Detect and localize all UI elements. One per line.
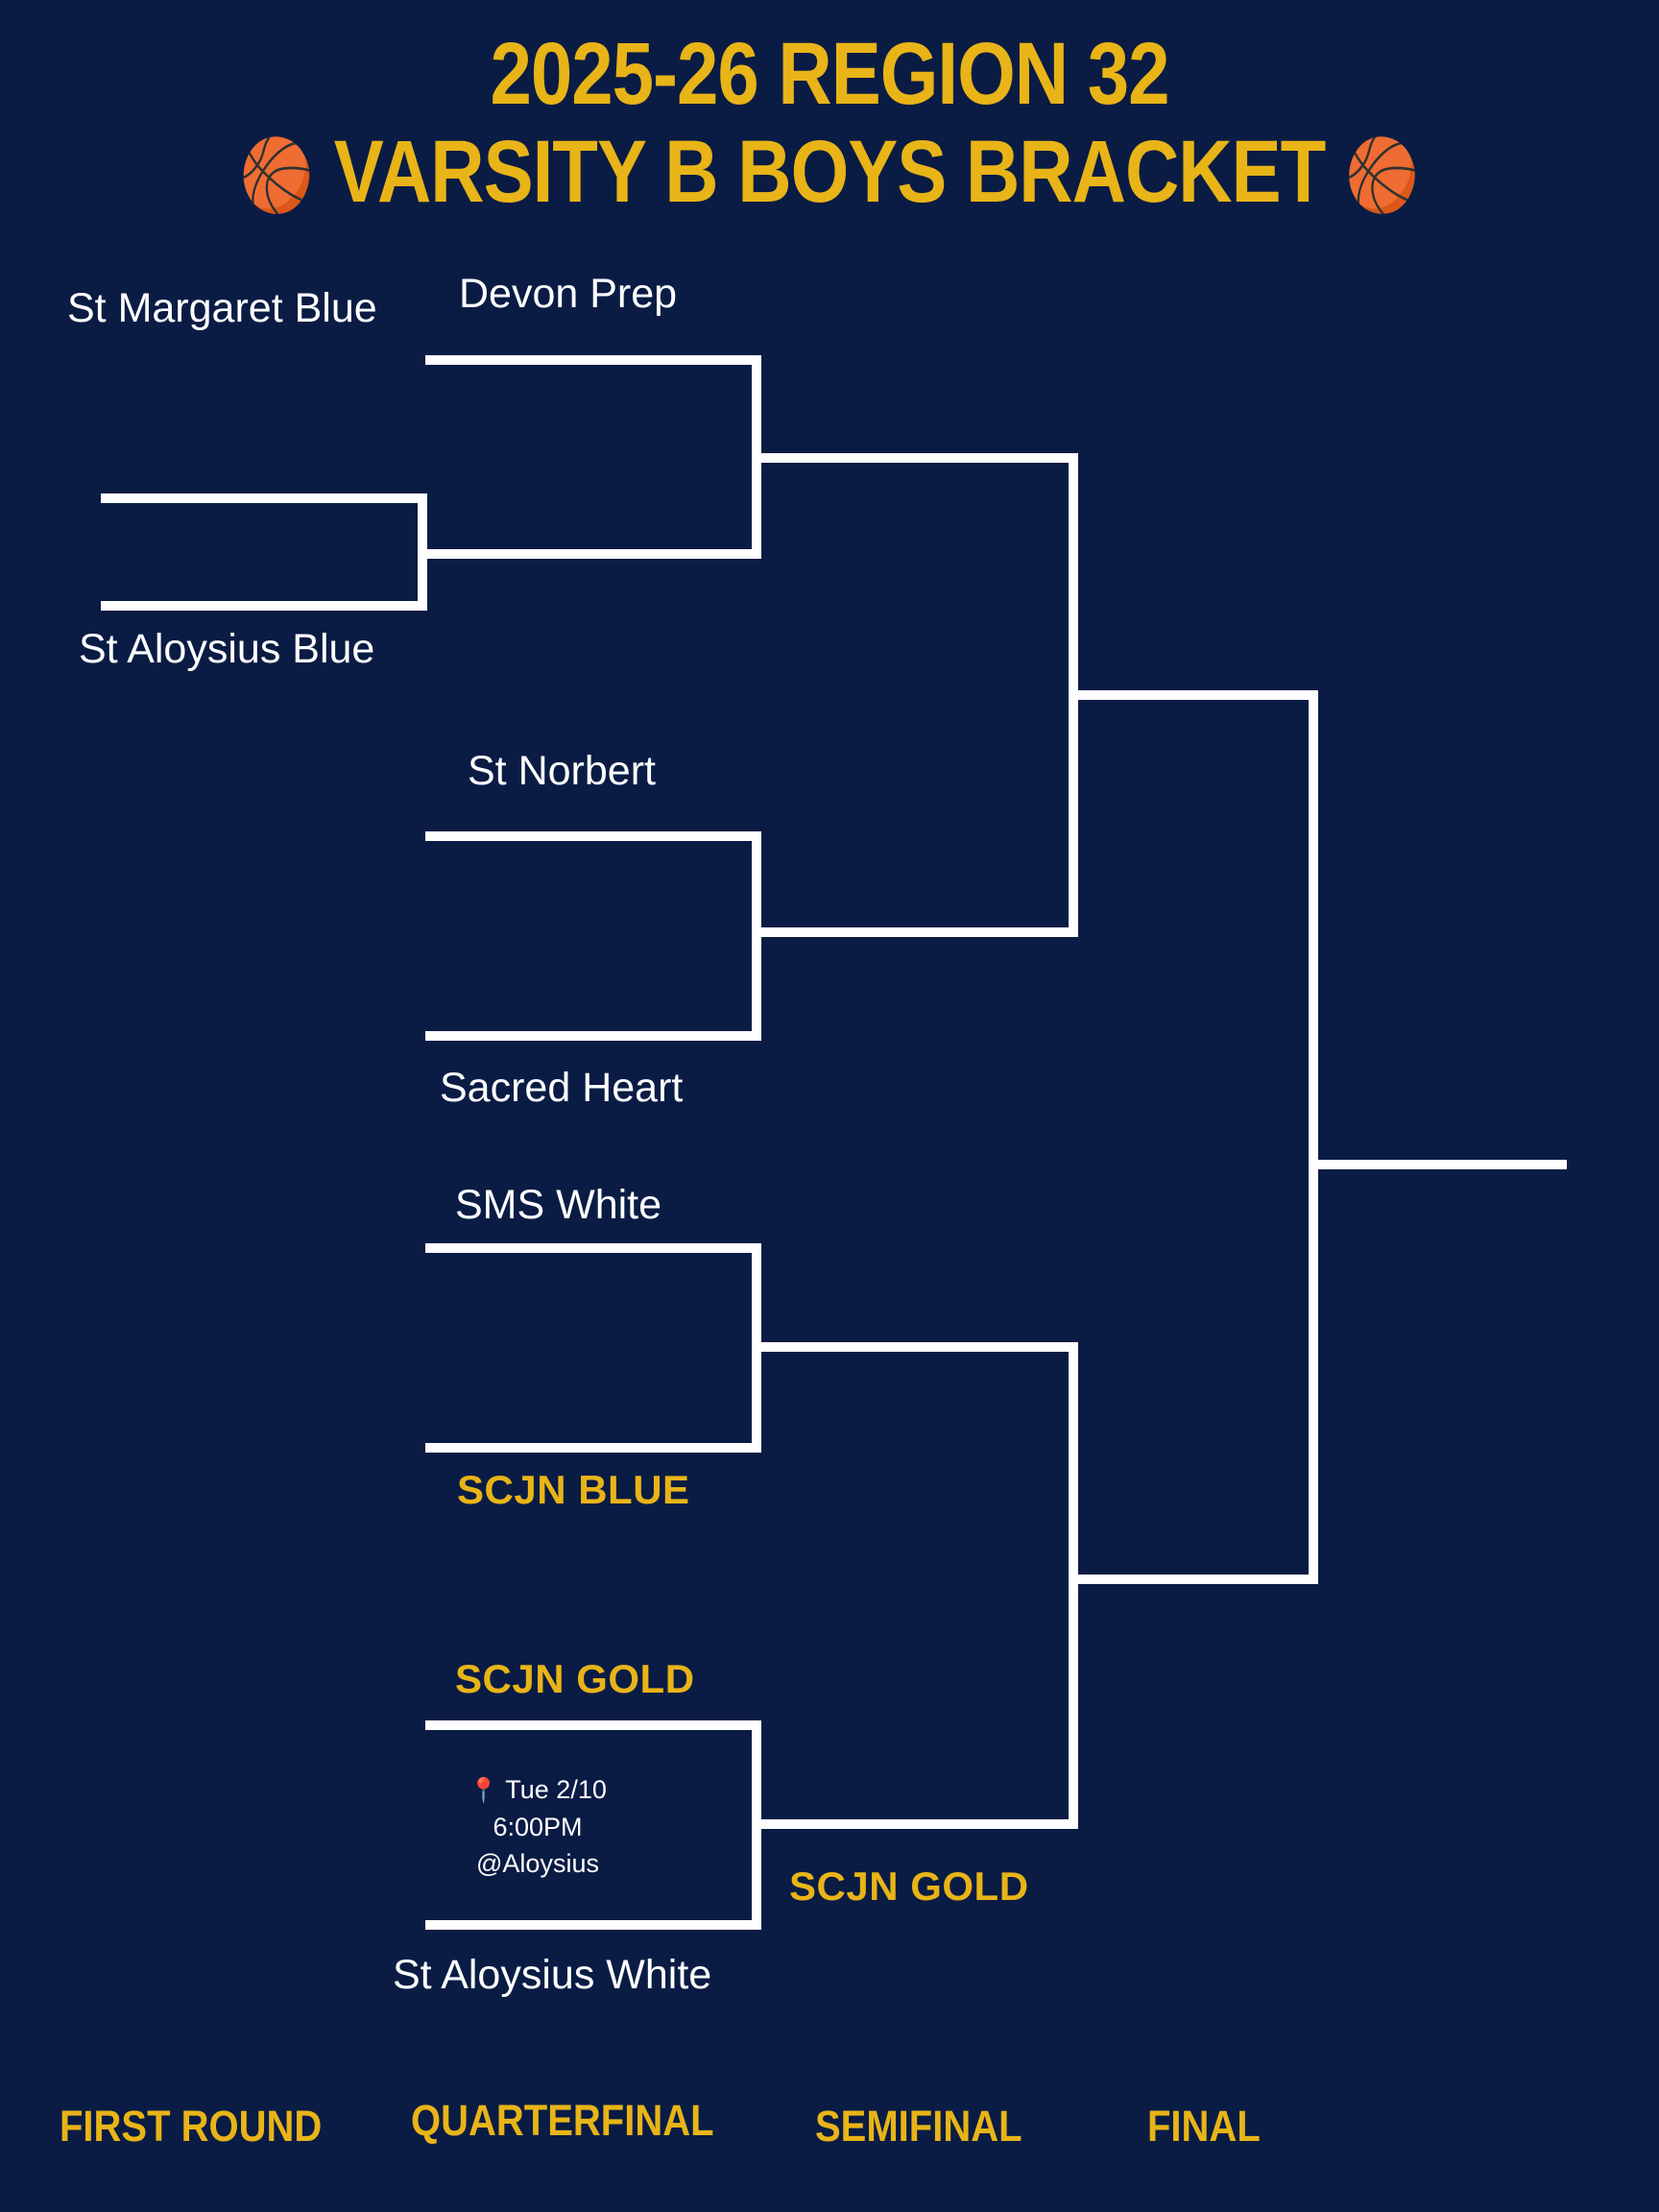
round-label-semifinal: SEMIFINAL [815,2103,1022,2152]
bracket-line-qf4-bottom [425,1920,761,1930]
bracket-line-sf1-bottom [752,927,1078,937]
basketball-icon-right: 🏀 [1345,136,1419,214]
bracket-line-fr1-bottom [101,601,427,611]
team-label-st-aloysius-blue: St Aloysius Blue [79,629,374,670]
bracket-line-final-top [1069,690,1318,700]
game-info-date-row: 📍 Tue 2/10 [427,1771,648,1809]
basketball-icon-left: 🏀 [240,136,314,214]
game-info-time: 6:00PM [427,1809,648,1845]
team-label-sacred-heart: Sacred Heart [440,1068,683,1109]
bracket-line-sf2-top [752,1342,1078,1352]
game-info-location: @Aloysius [427,1845,648,1882]
team-label-devon-prep: Devon Prep [459,274,677,315]
team-label-st-norbert: St Norbert [468,751,656,792]
bracket-line-final-bottom [1069,1575,1318,1584]
title-line-2: 🏀 VARSITY B BOYS BRACKET 🏀 [0,127,1659,217]
bracket-line-champion [1318,1160,1567,1169]
bracket-line-qf1-top [425,355,761,365]
bracket-poster: 2025-26 REGION 32 🏀 VARSITY B BOYS BRACK… [0,0,1659,2212]
round-label-first-round: FIRST ROUND [60,2103,322,2152]
bracket-line-qf3-top [425,1243,761,1253]
title-line-1: 2025-26 REGION 32 [0,29,1659,119]
game-info-block: 📍 Tue 2/10 6:00PM @Aloysius [427,1771,648,1882]
team-label-st-aloysius-white: St Aloysius White [393,1955,711,1996]
poster-title: 2025-26 REGION 32 🏀 VARSITY B BOYS BRACK… [0,29,1659,203]
bracket-line-qf3-bottom [425,1443,761,1453]
bracket-line-qf1-bottom [425,549,761,559]
round-label-quarterfinal: QUARTERFINAL [411,2097,714,2146]
bracket-line-qf2-top [425,831,761,841]
title-line-2-text: VARSITY B BOYS BRACKET [334,121,1326,221]
round-label-final: FINAL [1147,2103,1261,2152]
bracket-line-qf2-bottom [425,1031,761,1041]
team-label-sms-white: SMS White [455,1185,661,1226]
team-label-scjn-gold-semifinal: SCJN GOLD [789,1866,1029,1907]
game-info-date: Tue 2/10 [505,1775,607,1804]
location-pin-icon: 📍 [469,1777,498,1804]
bracket-line-sf1-top [752,453,1078,463]
team-label-scjn-blue: SCJN BLUE [457,1470,690,1510]
bracket-line-qf4-top [425,1720,761,1730]
bracket-line-fr1-top [101,493,427,503]
bracket-line-sf2-bottom [752,1819,1078,1829]
bracket-line-final-connector [1309,690,1318,1584]
bracket-line-sf2-connector [1069,1342,1078,1829]
team-label-scjn-gold-qf: SCJN GOLD [455,1659,695,1699]
team-label-st-margaret-blue: St Margaret Blue [67,288,377,329]
